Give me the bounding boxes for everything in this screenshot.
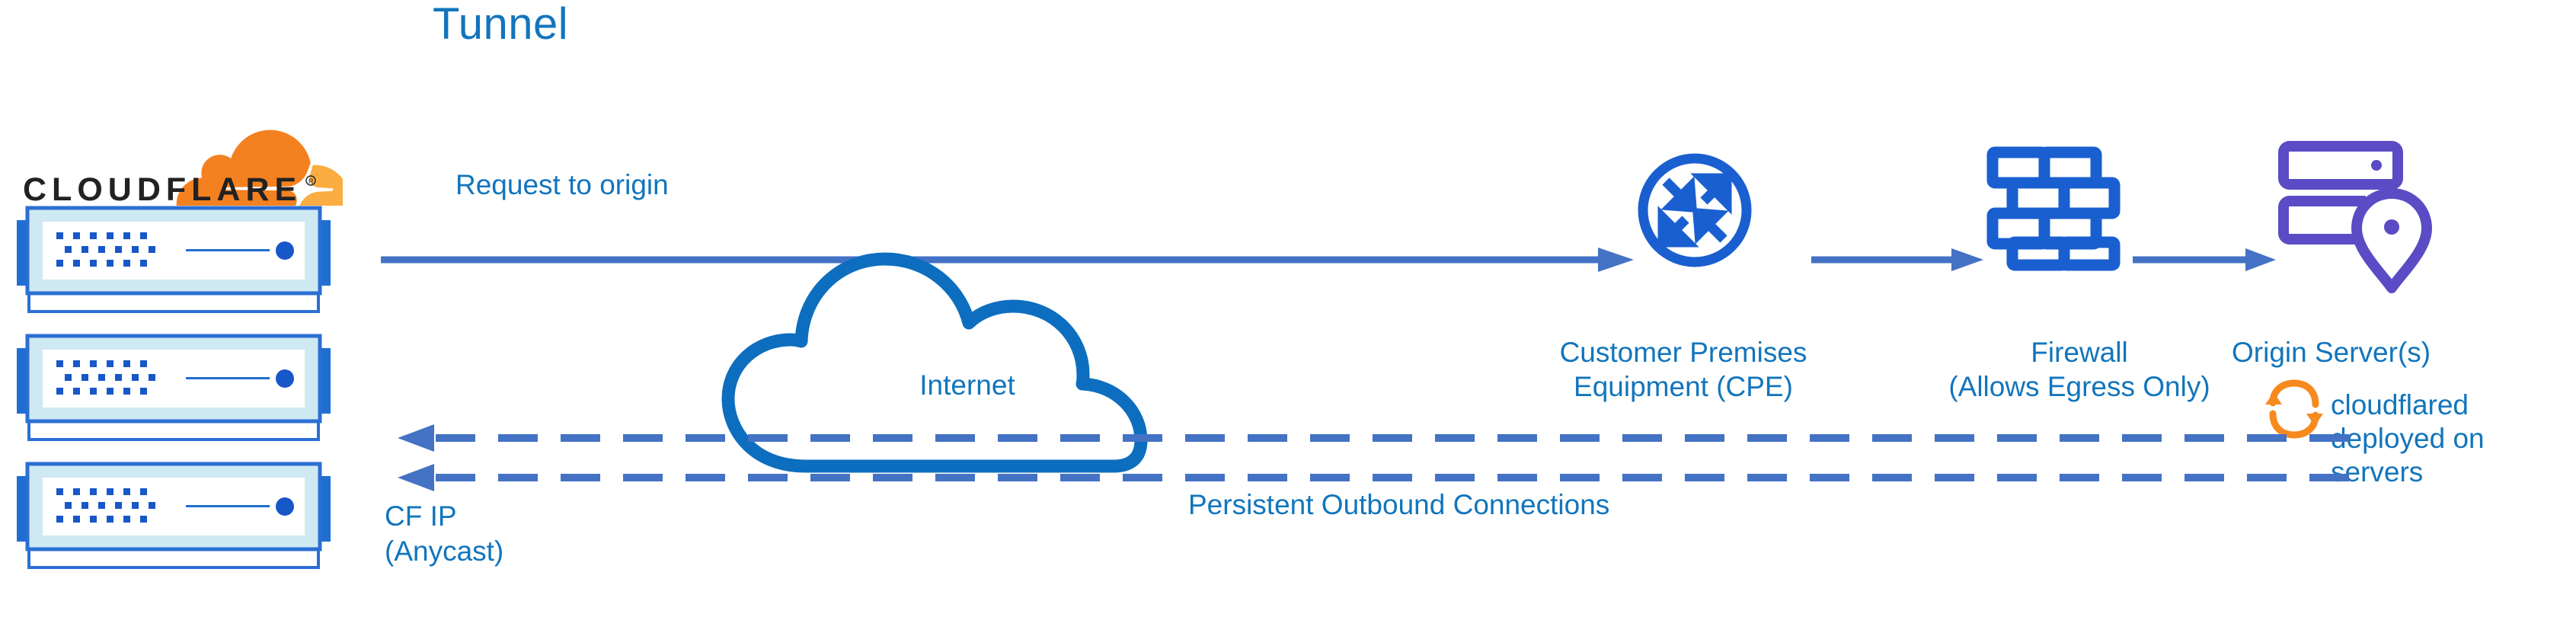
cpe-label: Customer Premises Equipment (CPE) [1508, 335, 1858, 404]
origin-server-node [2276, 139, 2436, 310]
origin-server-label: Origin Server(s) [2232, 335, 2559, 369]
server-unit [17, 464, 331, 567]
tunnel-diagram-canvas: Tunnel CLOUDFLARE R [0, 0, 2576, 617]
request-to-origin-label: Request to origin [455, 169, 669, 201]
brick-wall-icon [1985, 145, 2122, 274]
firewall-label: Firewall (Allows Egress Only) [1904, 335, 2255, 404]
cf-ip-anycast-label: CF IP (Anycast) [385, 499, 628, 569]
server-unit [17, 208, 331, 312]
server-unit [17, 336, 331, 440]
arrowhead-left [398, 424, 434, 452]
cpe-node [1634, 149, 1756, 275]
cloudflare-logo: CLOUDFLARE R [23, 99, 343, 206]
cpe-to-firewall-arrow [1811, 244, 1986, 280]
arrowhead-left [398, 464, 434, 491]
internet-label: Internet [853, 369, 1082, 401]
cloudflared-label: cloudflared deployed on servers [2331, 388, 2559, 489]
server-rack-pin-icon [2276, 139, 2436, 306]
firewall-to-origin-arrow [2133, 244, 2279, 280]
firewall-node [1985, 145, 2122, 278]
persistent-outbound-label: Persistent Outbound Connections [1188, 488, 1767, 522]
server-stack [6, 202, 364, 602]
four-arrows-circle-icon [1634, 149, 1756, 271]
page-title: Tunnel [433, 0, 568, 50]
svg-text:R: R [308, 177, 314, 185]
